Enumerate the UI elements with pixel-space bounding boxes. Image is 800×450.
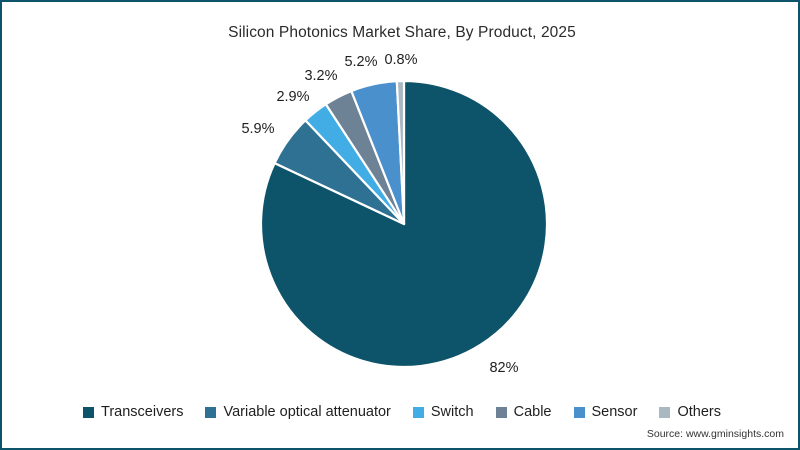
pie-slice-group (261, 81, 547, 367)
pie-chart: 82%5.9%2.9%3.2%5.2%0.8% (2, 2, 800, 402)
pie-slice-label: 3.2% (304, 68, 337, 84)
legend-item-label: Sensor (592, 404, 638, 420)
square-swatch-icon (574, 407, 585, 418)
legend-item[interactable]: Variable optical attenuator (205, 404, 390, 420)
chart-frame: Silicon Photonics Market Share, By Produ… (0, 0, 800, 450)
square-swatch-icon (83, 407, 94, 418)
chart-legend: TransceiversVariable optical attenuatorS… (2, 404, 800, 420)
legend-item-label: Others (677, 404, 721, 420)
legend-item[interactable]: Switch (413, 404, 474, 420)
square-swatch-icon (413, 407, 424, 418)
pie-slice-label: 5.9% (241, 121, 274, 137)
legend-item[interactable]: Sensor (574, 404, 638, 420)
legend-item[interactable]: Transceivers (83, 404, 183, 420)
legend-item-label: Transceivers (101, 404, 183, 420)
legend-item-label: Variable optical attenuator (223, 404, 390, 420)
square-swatch-icon (205, 407, 216, 418)
legend-item-label: Switch (431, 404, 474, 420)
legend-item-label: Cable (514, 404, 552, 420)
square-swatch-icon (659, 407, 670, 418)
legend-item[interactable]: Cable (496, 404, 552, 420)
pie-slice-label: 0.8% (384, 52, 417, 68)
legend-item[interactable]: Others (659, 404, 721, 420)
square-swatch-icon (496, 407, 507, 418)
pie-slice-label: 2.9% (276, 89, 309, 105)
pie-slice-label: 5.2% (344, 54, 377, 70)
pie-slice-label: 82% (489, 360, 518, 376)
source-attribution: Source: www.gminsights.com (647, 428, 784, 440)
